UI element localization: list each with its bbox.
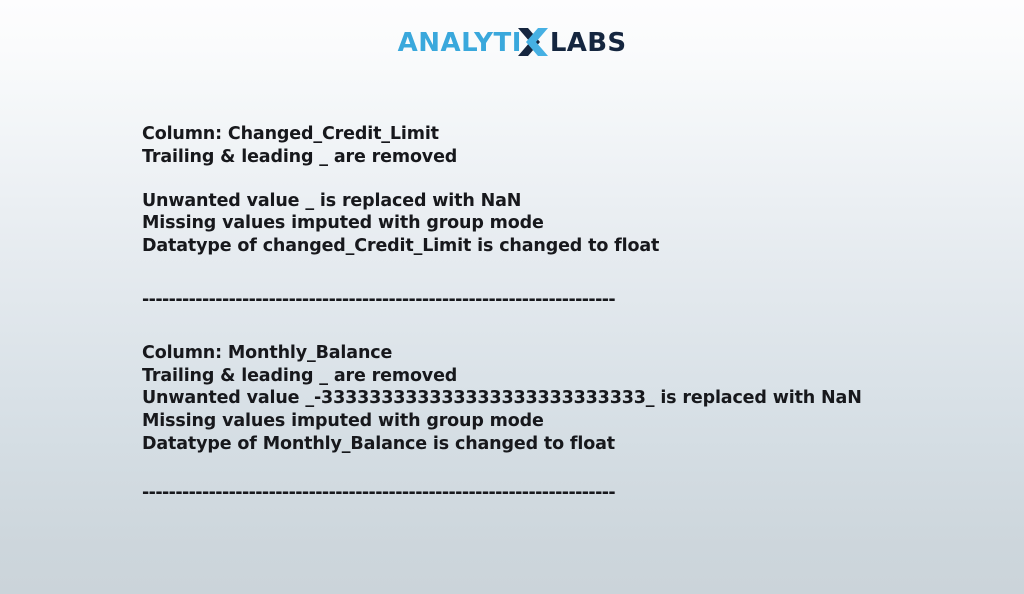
block2-trailing-leading: Trailing & leading _ are removed [142, 365, 1002, 388]
gap-after-divider-1 [142, 312, 1002, 342]
block1-datatype: Datatype of changed_Credit_Limit is chan… [142, 235, 1002, 258]
x-chevron-icon [516, 25, 550, 59]
slide-canvas: ANALYTI LABS Column: Changed_Credit_Limi… [0, 0, 1024, 594]
gap-before-divider-2 [142, 456, 1002, 482]
section-divider-2: ----------------------------------------… [142, 482, 615, 505]
block2-unwanted-value: Unwanted value _-33333333333333333333333… [142, 387, 1002, 410]
block1-column-name: Column: Changed_Credit_Limit [142, 123, 1002, 146]
block2-column-name: Column: Monthly_Balance [142, 342, 1002, 365]
brand-logo: ANALYTI LABS [0, 20, 1024, 64]
block2-missing-values: Missing values imputed with group mode [142, 410, 1002, 433]
divider-1-row: ----------------------------------------… [142, 289, 1002, 312]
slide-content: Column: Changed_Credit_Limit Trailing & … [142, 123, 1002, 505]
logo-lockup: ANALYTI LABS [398, 22, 627, 62]
logo-wordmark-labs: LABS [550, 30, 626, 56]
logo-wordmark-analytix: ANALYTI [398, 30, 522, 56]
section-divider-1: ----------------------------------------… [142, 289, 615, 312]
block1-missing-values: Missing values imputed with group mode [142, 212, 1002, 235]
block2-datatype: Datatype of Monthly_Balance is changed t… [142, 433, 1002, 456]
column-summary-block-2: Column: Monthly_Balance Trailing & leadi… [142, 342, 1002, 456]
gap-before-divider-1 [142, 258, 1002, 289]
divider-2-row: ----------------------------------------… [142, 482, 1002, 505]
column-summary-block-1: Column: Changed_Credit_Limit Trailing & … [142, 123, 1002, 258]
block1-inner-spacer [142, 169, 1002, 190]
block1-trailing-leading: Trailing & leading _ are removed [142, 146, 1002, 169]
block1-unwanted-value: Unwanted value _ is replaced with NaN [142, 190, 1002, 213]
